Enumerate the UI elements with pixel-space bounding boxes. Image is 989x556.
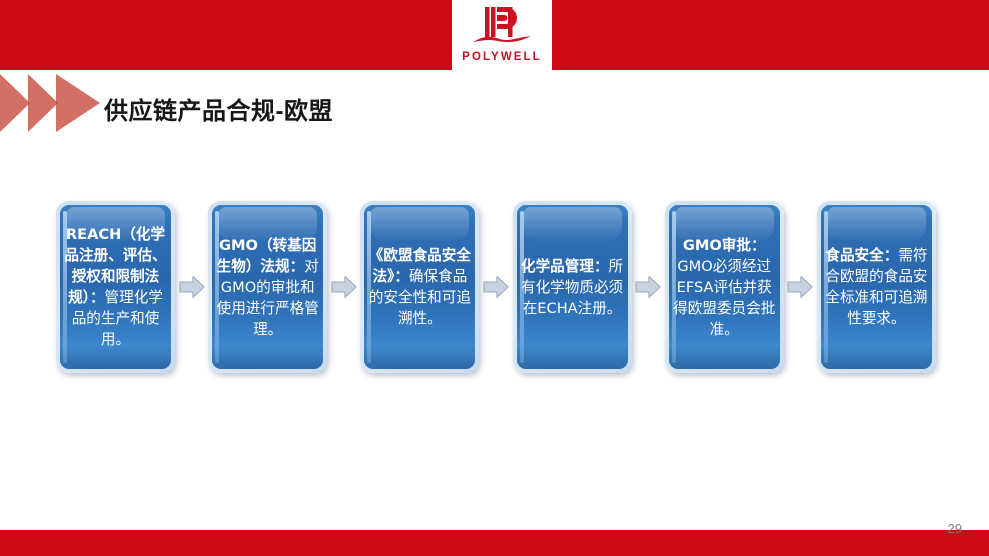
flow-node-heading: 化学品管理：: [521, 258, 609, 275]
flow-node-gmo-approval[interactable]: GMO审批：GMO必须经过EFSA评估并获得欧盟委员会批准。: [665, 201, 784, 373]
flow-node-gmo-regulation[interactable]: GMO（转基因生物）法规：对GMO的审批和使用进行严格管理。: [208, 201, 327, 373]
arrow-right-icon: [331, 275, 357, 299]
flow-node-text: 化学品管理：所有化学物质必须在ECHA注册。: [517, 256, 628, 319]
flow-node-surface: GMO（转基因生物）法规：对GMO的审批和使用进行严格管理。: [212, 205, 323, 369]
footer-bar: [0, 530, 989, 556]
flow-node-surface: 化学品管理：所有化学物质必须在ECHA注册。: [517, 205, 628, 369]
flow-node-text: GMO（转基因生物）法规：对GMO的审批和使用进行严格管理。: [212, 235, 323, 340]
flow-node-body: GMO必须经过EFSA评估并获得欧盟委员会批准。: [673, 258, 775, 338]
arrow-right-icon: [179, 275, 205, 299]
triple-chevron-right-icon: [0, 74, 112, 132]
flow-node-surface: REACH（化学品注册、评估、授权和限制法规）：管理化学品的生产和使用。: [60, 205, 171, 369]
flow-node-eu-food-safety-law[interactable]: 《欧盟食品安全法》：确保食品的安全性和可追溯性。: [360, 201, 479, 373]
flow-node-surface: 食品安全：需符合欧盟的食品安全标准和可追溯性要求。: [821, 205, 932, 369]
logo-wordmark: POLYWELL: [462, 51, 542, 63]
page-number: 29: [948, 521, 962, 536]
logo: POLYWELL: [452, 0, 552, 72]
flow-node-text: 食品安全：需符合欧盟的食品安全标准和可追溯性要求。: [821, 245, 932, 329]
flow-node-text: REACH（化学品注册、评估、授权和限制法规）：管理化学品的生产和使用。: [60, 224, 171, 350]
compliance-flow: REACH（化学品注册、评估、授权和限制法规）：管理化学品的生产和使用。 GMO…: [56, 199, 936, 375]
arrow-right-icon: [787, 275, 813, 299]
page-title: 供应链产品合规-欧盟: [104, 91, 333, 126]
flow-node-text: 《欧盟食品安全法》：确保食品的安全性和可追溯性。: [364, 245, 475, 329]
flow-node-chemical-management[interactable]: 化学品管理：所有化学物质必须在ECHA注册。: [513, 201, 632, 373]
flow-node-heading: 食品安全：: [825, 247, 898, 264]
flow-node-food-safety[interactable]: 食品安全：需符合欧盟的食品安全标准和可追溯性要求。: [817, 201, 936, 373]
flow-node-surface: GMO审批：GMO必须经过EFSA评估并获得欧盟委员会批准。: [669, 205, 780, 369]
flow-node-surface: 《欧盟食品安全法》：确保食品的安全性和可追溯性。: [364, 205, 475, 369]
flow-node-heading: GMO（转基因生物）法规：: [217, 237, 317, 275]
flow-node-reach[interactable]: REACH（化学品注册、评估、授权和限制法规）：管理化学品的生产和使用。: [56, 201, 175, 373]
flow-node-text: GMO审批：GMO必须经过EFSA评估并获得欧盟委员会批准。: [669, 235, 780, 340]
polywell-p-monogram-icon: [471, 4, 533, 50]
arrow-right-icon: [635, 275, 661, 299]
flow-node-heading: GMO审批：: [683, 237, 766, 254]
arrow-right-icon: [483, 275, 509, 299]
